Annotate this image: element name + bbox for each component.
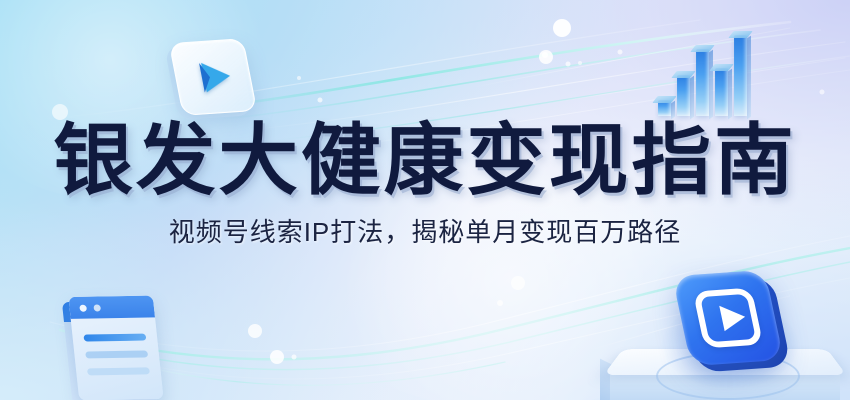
document-line bbox=[85, 350, 148, 358]
document-window-icon bbox=[68, 296, 163, 400]
bar-chart-bar bbox=[696, 49, 709, 116]
page-title: 银发大健康变现指南 bbox=[0, 118, 850, 202]
play-card-decoration bbox=[169, 38, 257, 116]
title-block: 银发大健康变现指南 视频号线索IP打法，揭秘单月变现百万路径 bbox=[0, 118, 850, 248]
page-subtitle: 视频号线索IP打法，揭秘单月变现百万路径 bbox=[0, 216, 850, 248]
promo-banner: 银发大健康变现指南 视频号线索IP打法，揭秘单月变现百万路径 bbox=[0, 0, 850, 400]
window-dot-icon bbox=[79, 305, 87, 312]
bar-chart-bar bbox=[734, 35, 747, 116]
document-line bbox=[87, 367, 150, 375]
document-line bbox=[83, 334, 146, 342]
bar-chart-bar bbox=[658, 100, 671, 116]
bar-chart-bar bbox=[677, 75, 690, 116]
bar-chart-decoration bbox=[658, 28, 758, 116]
play-button-icon bbox=[672, 270, 784, 366]
bar-chart-bar bbox=[715, 68, 728, 116]
window-dot-icon bbox=[93, 304, 101, 311]
document-card-body bbox=[68, 296, 163, 400]
